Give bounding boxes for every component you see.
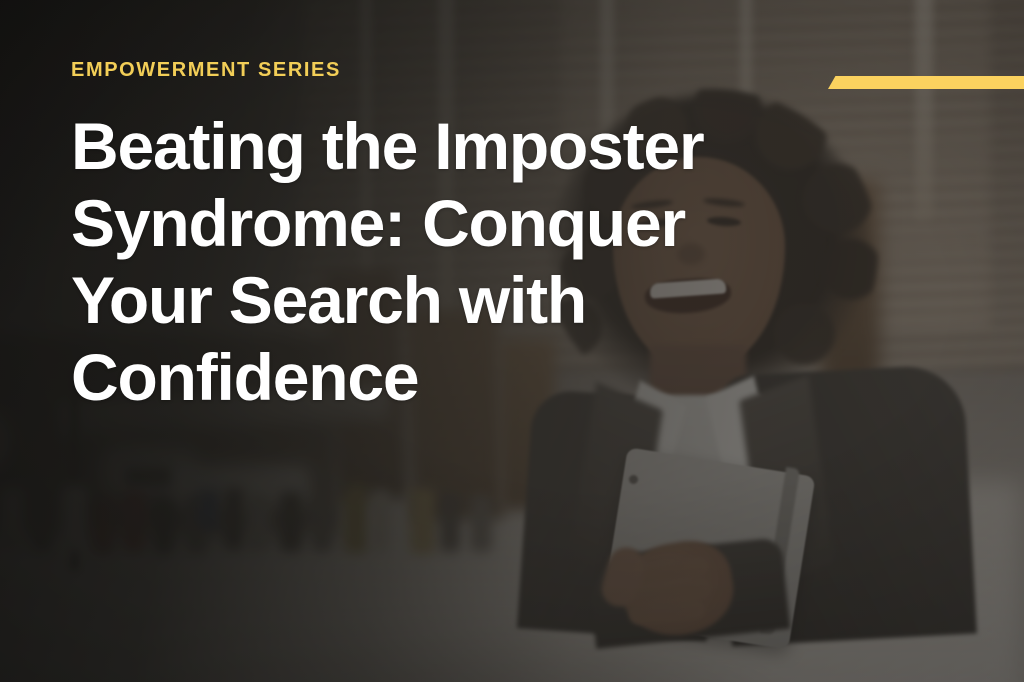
- banner-content: EMPOWERMENT SERIES Beating the Imposter …: [71, 60, 871, 416]
- series-eyebrow-label: EMPOWERMENT SERIES: [71, 60, 871, 80]
- headline-line: Beating the Imposter: [71, 109, 703, 183]
- promo-banner: EMPOWERMENT SERIES Beating the Imposter …: [0, 0, 1024, 682]
- headline-line: Confidence: [71, 340, 418, 414]
- page-title: Beating the Imposter Syndrome: Conquer Y…: [71, 108, 841, 416]
- headline-line: Syndrome: Conquer: [71, 186, 685, 260]
- headline-line: Your Search with: [71, 263, 586, 337]
